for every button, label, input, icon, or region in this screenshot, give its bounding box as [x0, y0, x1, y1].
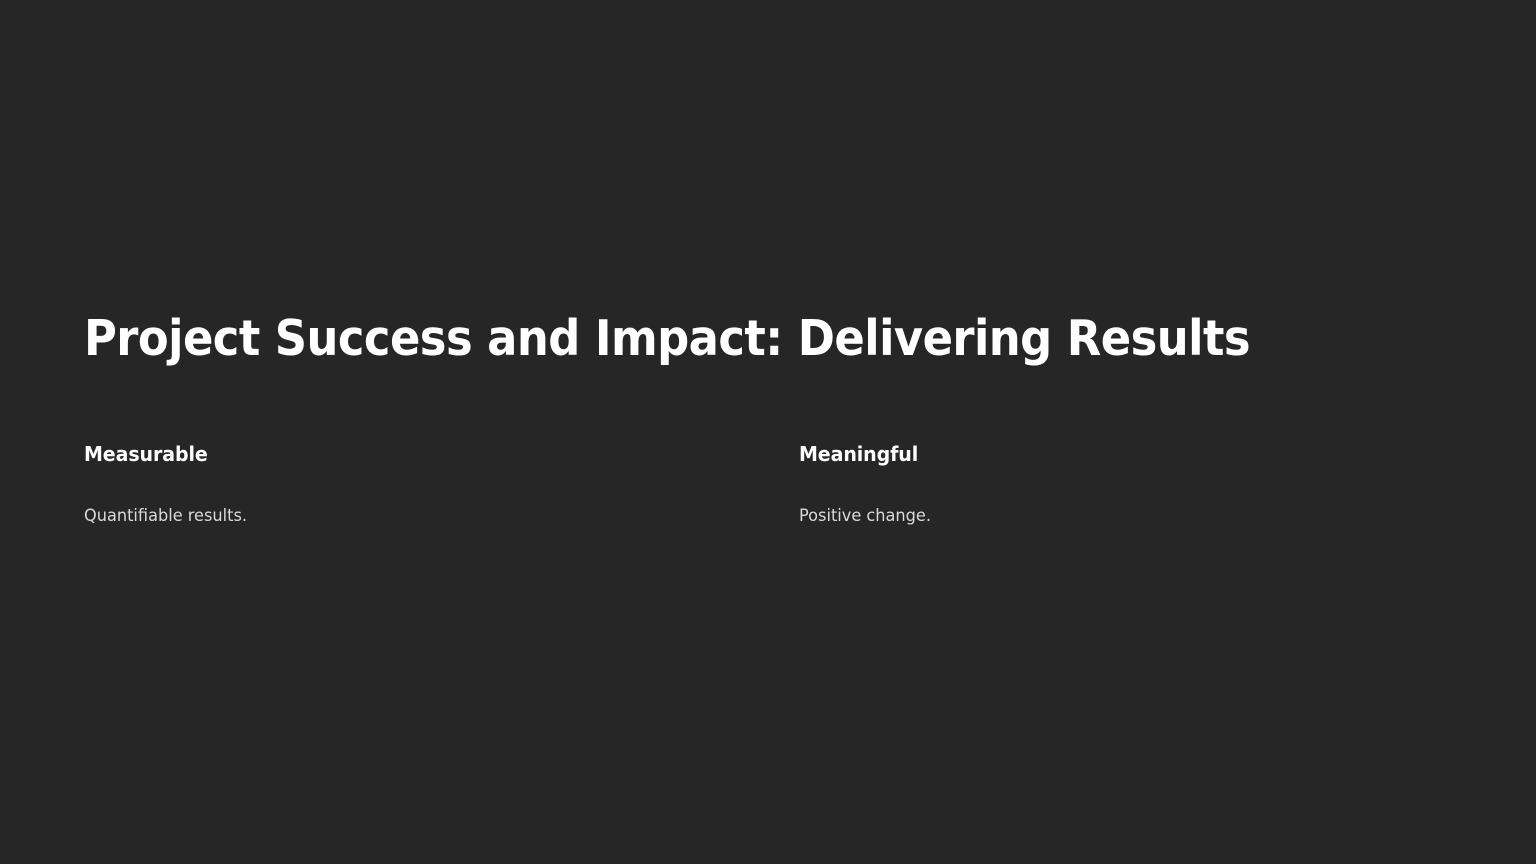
column-measurable: Measurable Quantifiable results.: [84, 440, 799, 528]
column-body-meaningful: Positive change.: [799, 504, 1478, 528]
column-heading-measurable: Measurable: [84, 440, 763, 468]
column-body-measurable: Quantifiable results.: [84, 504, 763, 528]
presentation-slide: Project Success and Impact: Delivering R…: [0, 0, 1536, 864]
column-meaningful: Meaningful Positive change.: [799, 440, 1514, 528]
content-columns: Measurable Quantifiable results. Meaning…: [84, 440, 1452, 528]
column-heading-meaningful: Meaningful: [799, 440, 1478, 468]
slide-title: Project Success and Impact: Delivering R…: [84, 310, 1301, 368]
